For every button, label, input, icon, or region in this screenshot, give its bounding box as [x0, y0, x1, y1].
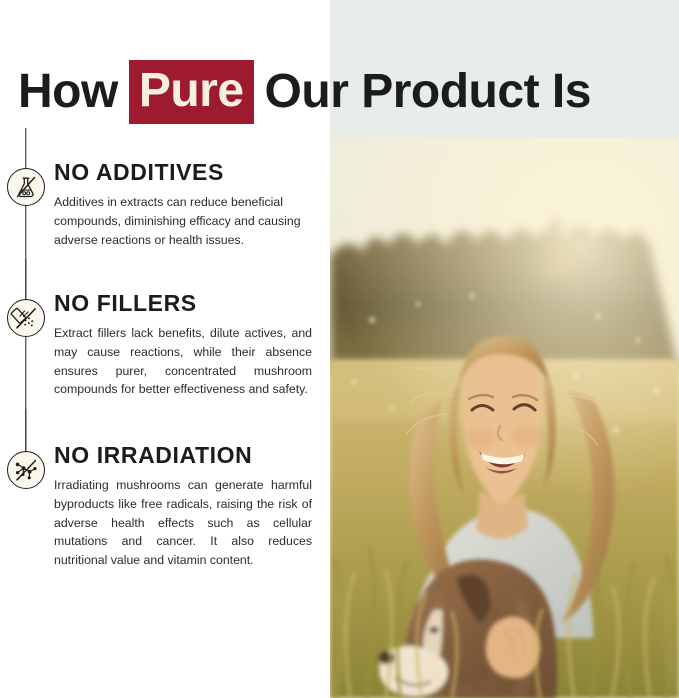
feature-title: NO FILLERS [54, 291, 312, 315]
feature-icon-column [0, 291, 52, 337]
no-additives-flask-icon [7, 168, 45, 206]
feature-body: NO FILLERS Extract fillers lack benefits… [52, 291, 330, 399]
connector-line-up [25, 259, 26, 301]
feature-item-no-fillers: NO FILLERS Extract fillers lack benefits… [0, 291, 330, 399]
woman-hugging-dog-in-field-photo [330, 138, 679, 698]
connector-line-up [25, 409, 26, 453]
feature-item-no-irradiation: NO IRRADIATION Irradiating mushrooms can… [0, 443, 330, 570]
feature-title: NO IRRADIATION [54, 443, 312, 467]
feature-description: Irradiating mushrooms can generate harmf… [54, 476, 312, 569]
no-fillers-shaker-icon [7, 299, 45, 337]
no-irradiation-molecule-icon [7, 451, 45, 489]
title-part-one: How [18, 68, 118, 116]
title-highlight-pure: Pure [129, 60, 254, 124]
feature-body: NO ADDITIVES Additives in extracts can r… [52, 160, 330, 249]
feature-list: NO ADDITIVES Additives in extracts can r… [0, 160, 330, 570]
feature-item-no-additives: NO ADDITIVES Additives in extracts can r… [0, 160, 330, 249]
page-title: How Pure Our Product Is [18, 62, 591, 122]
title-part-two: Our Product Is [265, 68, 591, 116]
feature-icon-column [0, 443, 52, 489]
product-purity-infographic: How Pure Our Product Is [0, 0, 679, 698]
feature-description: Additives in extracts can reduce benefic… [54, 193, 312, 249]
connector-line-up [25, 128, 26, 170]
feature-body: NO IRRADIATION Irradiating mushrooms can… [52, 443, 330, 570]
feature-title: NO ADDITIVES [54, 160, 312, 184]
feature-description: Extract fillers lack benefits, dilute ac… [54, 324, 312, 399]
feature-icon-column [0, 160, 52, 206]
